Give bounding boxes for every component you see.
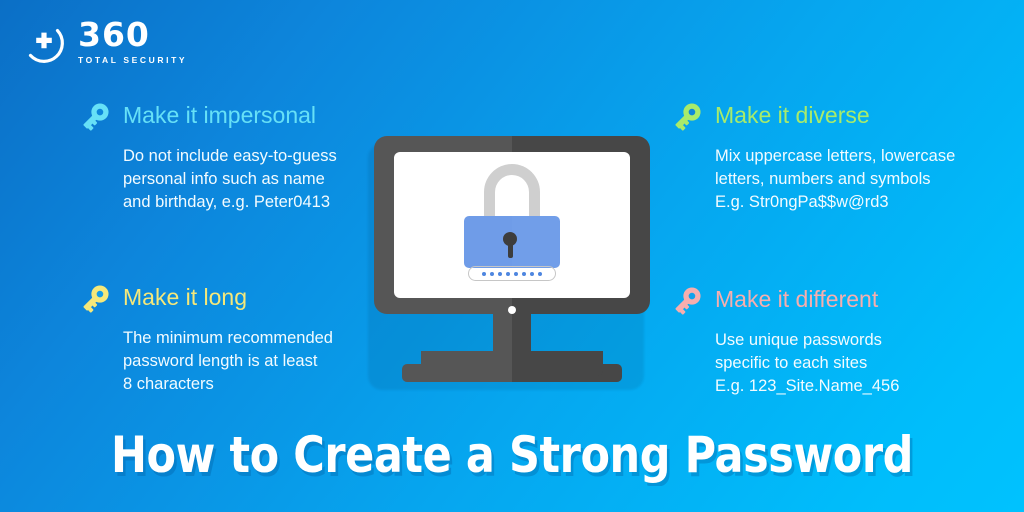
padlock-keyhole-slot [508,242,513,258]
tip-heading: Make it different [715,284,878,314]
tip-body: The minimum recommended password length … [123,327,406,396]
brand-name: 360 [78,18,238,51]
password-mask-dot [530,272,534,276]
password-mask-dot [538,272,542,276]
brand-logo: 360 TOTAL SECURITY [20,16,240,70]
password-mask-dot [498,272,502,276]
tip-heading: Make it impersonal [123,100,316,130]
tip-body: Do not include easy-to-guess personal in… [123,145,406,214]
tip-header: Make it diverse [668,100,998,138]
key-icon [76,98,114,136]
page-title: How to Create a Strong Password [72,424,953,486]
monitor-stand-left [421,351,501,376]
password-mask-dot [490,272,494,276]
tip-header: Make it impersonal [76,100,406,138]
tip-make-it-different: Make it different Use unique passwords s… [668,284,998,398]
shield-plus-circle-icon [20,19,68,67]
tip-heading: Make it long [123,282,247,312]
tip-heading: Make it diverse [715,100,870,130]
tip-body-line: The minimum recommended [123,327,406,350]
tip-body-line: and birthday, e.g. Peter0413 [123,191,406,214]
password-mask-dot [482,272,486,276]
monitor-power-led [508,306,516,314]
padlock-icon [458,164,566,268]
tip-body-line: personal info such as name [123,168,406,191]
tip-make-it-long: Make it long The minimum recommended pas… [76,282,406,396]
tip-header: Make it different [668,284,998,322]
brand-wordmark: 360 TOTAL SECURITY [78,18,238,66]
tip-body-line: 8 characters [123,373,406,396]
key-icon [668,98,706,136]
key-icon [76,280,114,318]
tip-body-line: E.g. Str0ngPa$$w@rd3 [715,191,998,214]
tip-body-line: Do not include easy-to-guess [123,145,406,168]
tip-body-line: specific to each sites [715,352,998,375]
monitor-stand-neck [493,314,531,376]
tip-header: Make it long [76,282,406,320]
password-mask-dot [522,272,526,276]
tip-body: Mix uppercase letters, lowercase letters… [715,145,998,214]
infographic-poster: 360 TOTAL SECURITY Make it impersonal [0,0,1024,512]
tip-body-line: Use unique passwords [715,329,998,352]
monitor-stand-right [523,351,603,376]
password-mask-dot [506,272,510,276]
tip-body-line: password length is at least [123,350,406,373]
password-input[interactable] [468,266,556,281]
key-icon [668,282,706,320]
tip-make-it-impersonal: Make it impersonal Do not include easy-t… [76,100,406,214]
tip-make-it-diverse: Make it diverse Mix uppercase letters, l… [668,100,998,214]
brand-tagline: TOTAL SECURITY [78,54,238,66]
tip-body-line: E.g. 123_Site.Name_456 [715,375,998,398]
tip-body-line: Mix uppercase letters, lowercase [715,145,998,168]
monitor-illustration [374,136,650,382]
tip-body-line: letters, numbers and symbols [715,168,998,191]
password-mask-dot [514,272,518,276]
tip-body: Use unique passwords specific to each si… [715,329,998,398]
